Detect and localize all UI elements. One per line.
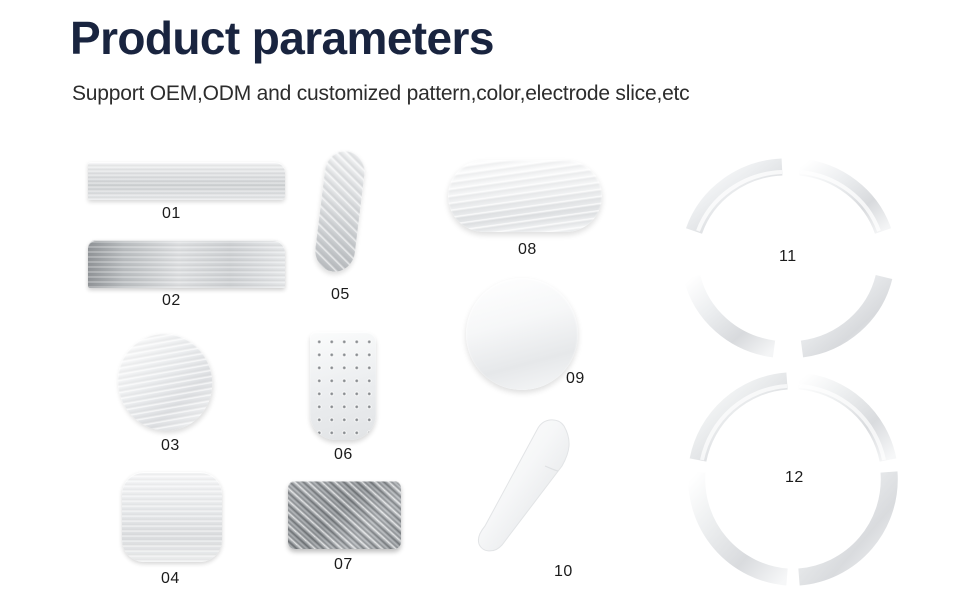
- part-label-07: 07: [334, 556, 353, 574]
- product-part-01: [88, 162, 285, 200]
- product-part-09: [466, 278, 578, 390]
- product-part-02: [88, 240, 285, 288]
- part-label-05: 05: [331, 286, 350, 304]
- part-10-shape: [476, 410, 576, 555]
- part-label-12: 12: [785, 469, 804, 487]
- product-part-05: [313, 148, 368, 274]
- part-label-03: 03: [161, 437, 180, 455]
- product-part-07: [288, 481, 401, 549]
- part-label-04: 04: [161, 570, 180, 588]
- part-label-10: 10: [554, 563, 573, 581]
- part-label-06: 06: [334, 446, 353, 464]
- part-label-08: 08: [518, 241, 537, 259]
- part-label-09: 09: [566, 370, 585, 388]
- product-part-08: [448, 160, 602, 232]
- product-parameters-page: Product parameters Support OEM,ODM and c…: [0, 0, 970, 600]
- product-part-06: [310, 332, 376, 440]
- part-label-02: 02: [162, 292, 181, 310]
- part-06-dot-pattern: [310, 332, 376, 440]
- product-part-10: [476, 410, 576, 555]
- part-label-11: 11: [779, 248, 797, 266]
- product-part-04: [122, 472, 222, 562]
- page-title: Product parameters: [70, 14, 494, 62]
- part-label-01: 01: [162, 205, 181, 223]
- product-part-03: [103, 319, 227, 445]
- page-subtitle: Support OEM,ODM and customized pattern,c…: [72, 82, 690, 106]
